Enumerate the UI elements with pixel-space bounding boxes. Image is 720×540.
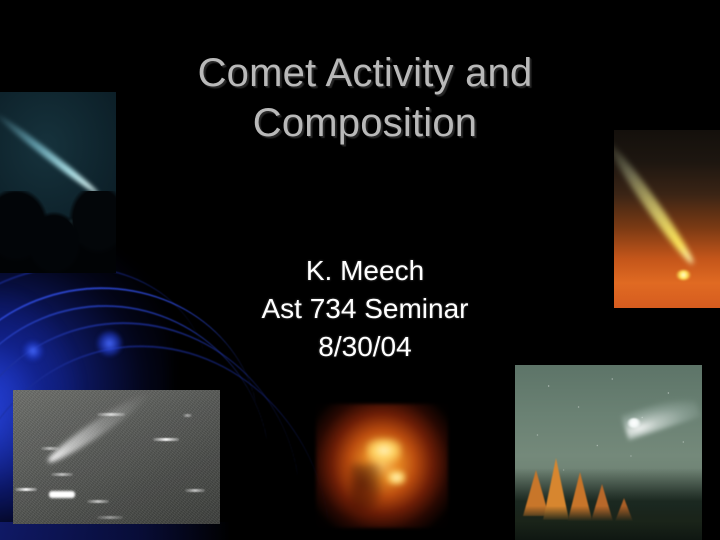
star-trail-streak	[87, 500, 109, 503]
comet-head	[676, 270, 691, 280]
slide-subtitle[interactable]: K. Meech Ast 734 Seminar 8/30/04	[150, 252, 580, 366]
comet-tail	[614, 139, 698, 268]
background-bottom-strip	[0, 522, 230, 540]
nucleus-secondary-knot	[387, 470, 406, 485]
image-ccd-comet-grayscale	[13, 390, 220, 524]
presentation-slide: Comet Activity and Composition K. Meech …	[0, 0, 720, 540]
star-trail-streak	[97, 516, 123, 519]
image-hale-bopp-over-mountains	[515, 365, 702, 540]
image-comet-orange-twilight	[614, 130, 720, 308]
title-line-1: Comet Activity and	[120, 48, 610, 98]
coma-dark-region	[350, 464, 382, 512]
tree-silhouettes	[0, 191, 116, 273]
foreground-shadow	[515, 506, 702, 540]
background-glow-dot	[22, 340, 44, 362]
comet-nucleus	[49, 491, 75, 498]
star-trail-streak	[51, 473, 73, 476]
star-trail-streak	[41, 447, 59, 450]
star-trail-streak	[185, 489, 205, 492]
star-trail-streak	[183, 414, 192, 417]
subtitle-course: Ast 734 Seminar	[150, 290, 580, 328]
slide-title[interactable]: Comet Activity and Composition	[120, 48, 610, 148]
image-false-color-nucleus	[316, 404, 448, 528]
comet-tail	[0, 111, 101, 197]
star-trail-streak	[153, 438, 179, 441]
star-trail-streak	[15, 488, 37, 491]
subtitle-author: K. Meech	[150, 252, 580, 290]
subtitle-date: 8/30/04	[150, 328, 580, 366]
image-comet-over-trees	[0, 92, 116, 273]
background-glow-dot	[96, 330, 123, 357]
title-line-2: Composition	[120, 98, 610, 148]
comet-head	[627, 418, 641, 428]
star-trail-streak	[97, 413, 125, 416]
nucleus-core	[366, 438, 402, 463]
